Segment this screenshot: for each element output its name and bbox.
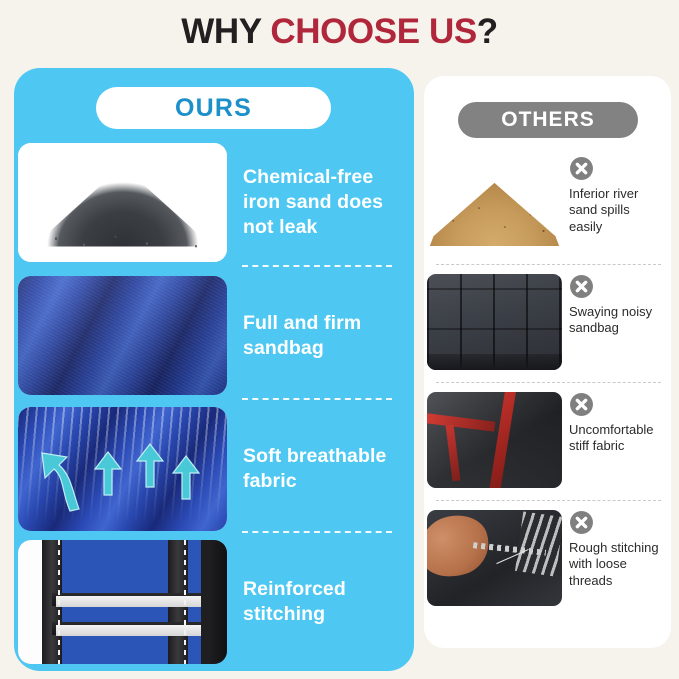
list-item: Soft breathable fabric — [14, 402, 414, 535]
divider — [242, 531, 392, 533]
others-heading-pill: OTHERS — [458, 102, 638, 138]
title-question-mark: ? — [477, 12, 498, 51]
others-item-label: Swaying noisy sandbag — [569, 304, 665, 337]
others-item-label: Inferior river sand spills easily — [569, 186, 665, 235]
x-circle-icon — [569, 510, 594, 535]
list-item: Full and firm sandbag — [14, 269, 414, 402]
list-item: Swaying noisy sandbag — [424, 266, 671, 384]
others-item-label: Uncomfortable stiff fabric — [569, 422, 665, 455]
title-why: WHY — [181, 12, 270, 51]
divider — [436, 264, 661, 265]
rough-stitching-loose-threads-photo — [427, 510, 562, 606]
list-item: Rough stitching with loose threads — [424, 502, 671, 620]
ours-heading-pill: OURS — [96, 87, 331, 129]
quilted-gray-sandbag-photo — [427, 274, 562, 370]
ours-item-label: Chemical-free iron sand does not leak — [243, 165, 414, 240]
others-heading-label: OTHERS — [501, 108, 595, 132]
ours-panel: OURS Chemical-free iron sand does not le… — [14, 68, 414, 671]
divider — [436, 382, 661, 383]
red-strap-stiff-fabric-photo — [427, 392, 562, 488]
comparison-board: OURS Chemical-free iron sand does not le… — [0, 68, 679, 679]
airflow-arrows-icon — [18, 407, 227, 531]
ours-item-label: Reinforced stitching — [243, 577, 414, 627]
list-item: Uncomfortable stiff fabric — [424, 384, 671, 502]
ours-heading-label: OURS — [175, 94, 252, 123]
others-panel: OTHERS Inferior river sand spills easily — [424, 76, 671, 648]
x-circle-icon — [569, 392, 594, 417]
divider — [242, 265, 392, 267]
divider — [242, 398, 392, 400]
others-item-label: Rough stitching with loose threads — [569, 540, 665, 589]
page-title: WHY CHOOSE US? — [0, 0, 679, 49]
ours-feature-list: Chemical-free iron sand does not leak Fu… — [14, 136, 414, 668]
divider — [436, 500, 661, 501]
ours-item-label: Soft breathable fabric — [243, 444, 414, 494]
reinforced-stitching-photo — [18, 540, 227, 664]
ours-item-label: Full and firm sandbag — [243, 311, 414, 361]
breathable-fabric-airflow-photo — [18, 407, 227, 531]
title-choose-us: CHOOSE US — [270, 12, 476, 51]
river-sand-pile-photo — [427, 156, 562, 252]
list-item: Inferior river sand spills easily — [424, 148, 671, 266]
x-circle-icon — [569, 156, 594, 181]
list-item: Chemical-free iron sand does not leak — [14, 136, 414, 269]
x-circle-icon — [569, 274, 594, 299]
iron-sand-pile-photo — [18, 143, 227, 262]
others-drawback-list: Inferior river sand spills easily Swayin… — [424, 148, 671, 620]
list-item: Reinforced stitching — [14, 535, 414, 668]
blue-fabric-folds-photo — [18, 276, 227, 395]
